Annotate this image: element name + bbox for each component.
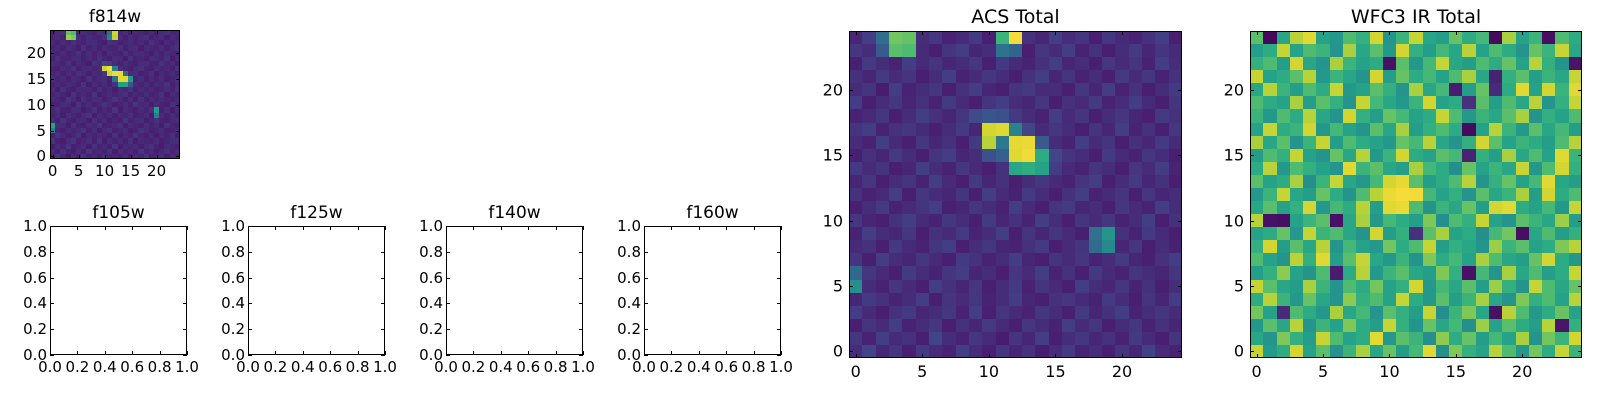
y-tick-label: 0.6: [221, 269, 245, 287]
y-tick-label: 5: [36, 122, 46, 140]
y-tick: [644, 252, 648, 253]
y-tick-right: [1178, 351, 1182, 352]
y-tick-right: [777, 355, 781, 356]
y-tick: [1250, 90, 1254, 91]
x-tick-top: [132, 226, 133, 230]
y-tick-right: [176, 156, 180, 157]
x-tick: [275, 351, 276, 355]
y-tick-right: [183, 252, 187, 253]
x-tick-top: [1055, 31, 1056, 35]
y-tick: [446, 252, 450, 253]
y-tick-right: [183, 303, 187, 304]
y-tick: [446, 329, 450, 330]
x-tick-top: [105, 226, 106, 230]
x-tick: [160, 351, 161, 355]
y-tick-right: [579, 226, 583, 227]
x-tick-top: [160, 226, 161, 230]
y-tick-label: 15: [1224, 146, 1244, 165]
x-tick-label: 1.0: [175, 358, 199, 376]
axes-frame: [1250, 31, 1582, 358]
x-tick-label: 15: [1045, 362, 1065, 381]
x-tick: [1055, 354, 1056, 358]
panel-wfc3-ir-total[interactable]: WFC3 IR Total 0510152005101520: [1250, 31, 1582, 358]
y-tick-label: 0.2: [221, 320, 245, 338]
y-tick: [446, 278, 450, 279]
y-tick: [50, 105, 54, 106]
panel-f814w[interactable]: f814w 0510152005101520: [50, 30, 180, 159]
y-tick: [248, 329, 252, 330]
y-tick: [446, 355, 450, 356]
y-tick: [644, 355, 648, 356]
y-tick-label: 0: [833, 342, 843, 361]
x-tick-label: 0.2: [659, 358, 683, 376]
y-tick-label: 0.0: [23, 346, 47, 364]
x-tick-top: [358, 226, 359, 230]
x-tick-top: [53, 30, 54, 34]
x-tick-top: [754, 226, 755, 230]
x-tick-top: [446, 226, 447, 230]
x-tick: [105, 351, 106, 355]
x-tick-top: [583, 226, 584, 230]
x-tick-label: 1.0: [373, 358, 397, 376]
y-tick-right: [183, 278, 187, 279]
x-tick-label: 1.0: [571, 358, 595, 376]
y-tick-right: [579, 303, 583, 304]
x-tick-label: 0: [48, 162, 58, 180]
x-tick-label: 0.4: [687, 358, 711, 376]
y-tick-label: 20: [1224, 80, 1244, 99]
y-tick-right: [381, 278, 385, 279]
y-tick: [849, 351, 853, 352]
panel-title-acs-total: ACS Total: [849, 6, 1182, 28]
x-tick: [187, 351, 188, 355]
x-tick-top: [644, 226, 645, 230]
y-tick-right: [1178, 155, 1182, 156]
y-tick-right: [176, 105, 180, 106]
x-tick: [1456, 354, 1457, 358]
axes-frame: [248, 226, 385, 355]
x-tick: [330, 351, 331, 355]
x-tick: [1257, 354, 1258, 358]
y-tick: [50, 329, 54, 330]
x-tick-top: [856, 31, 857, 35]
y-tick-right: [183, 329, 187, 330]
axes-frame: [849, 31, 1182, 358]
x-tick-label: 0.4: [489, 358, 513, 376]
x-tick-top: [1323, 31, 1324, 35]
x-tick-label: 10: [979, 362, 999, 381]
panel-title-f160w: f160w: [644, 203, 781, 223]
x-tick-label: 20: [1112, 362, 1132, 381]
y-tick-label: 0.2: [419, 320, 443, 338]
y-tick: [50, 278, 54, 279]
y-tick: [1250, 221, 1254, 222]
x-tick-label: 15: [121, 162, 140, 180]
y-tick-label: 0.6: [617, 269, 641, 287]
x-tick-top: [556, 226, 557, 230]
y-tick-right: [381, 303, 385, 304]
x-tick-label: 5: [1318, 362, 1328, 381]
y-tick-right: [381, 252, 385, 253]
panel-title-f814w: f814w: [50, 7, 180, 27]
y-tick-label: 0: [1234, 342, 1244, 361]
y-tick-right: [183, 355, 187, 356]
y-tick-label: 15: [823, 146, 843, 165]
x-tick-top: [473, 226, 474, 230]
y-tick-right: [579, 278, 583, 279]
y-tick-right: [176, 79, 180, 80]
y-tick-right: [579, 329, 583, 330]
x-tick-top: [699, 226, 700, 230]
y-tick-right: [777, 329, 781, 330]
y-tick-right: [381, 355, 385, 356]
x-tick-label: 20: [1512, 362, 1532, 381]
x-tick: [473, 351, 474, 355]
x-tick-label: 0.8: [544, 358, 568, 376]
x-tick: [1122, 354, 1123, 358]
y-tick-right: [1178, 221, 1182, 222]
x-tick-top: [105, 30, 106, 34]
x-tick: [583, 351, 584, 355]
x-tick: [157, 155, 158, 159]
y-tick-label: 0.0: [221, 346, 245, 364]
x-tick: [699, 351, 700, 355]
panel-acs-total[interactable]: ACS Total 0510152005101520: [849, 31, 1182, 358]
x-tick-label: 0.8: [742, 358, 766, 376]
y-tick-label: 5: [833, 277, 843, 296]
x-tick-top: [77, 226, 78, 230]
x-tick: [77, 351, 78, 355]
y-tick: [1250, 351, 1254, 352]
x-tick: [556, 351, 557, 355]
y-tick-label: 0.0: [617, 346, 641, 364]
y-tick-right: [176, 53, 180, 54]
y-tick-right: [1178, 286, 1182, 287]
y-tick-right: [1578, 351, 1582, 352]
x-tick-label: 0: [1252, 362, 1262, 381]
y-tick-label: 0.8: [221, 243, 245, 261]
y-tick: [50, 79, 54, 80]
axes-frame: [644, 226, 781, 355]
x-tick: [501, 351, 502, 355]
x-tick-top: [248, 226, 249, 230]
x-tick-top: [501, 226, 502, 230]
y-tick-right: [381, 226, 385, 227]
x-tick-label: 5: [917, 362, 927, 381]
x-tick-label: 0: [851, 362, 861, 381]
y-tick-right: [777, 303, 781, 304]
x-tick: [132, 351, 133, 355]
y-tick: [248, 278, 252, 279]
x-tick-top: [50, 226, 51, 230]
x-tick-label: 10: [1379, 362, 1399, 381]
x-tick: [781, 351, 782, 355]
x-tick: [105, 155, 106, 159]
y-tick-right: [1578, 221, 1582, 222]
y-tick: [50, 53, 54, 54]
x-tick-label: 0.4: [291, 358, 315, 376]
x-tick-label: 0.2: [263, 358, 287, 376]
x-tick-top: [187, 226, 188, 230]
x-tick: [131, 155, 132, 159]
axes-frame: [50, 30, 180, 159]
x-tick-top: [671, 226, 672, 230]
axes-frame: [50, 226, 187, 355]
x-tick-top: [385, 226, 386, 230]
y-tick-label: 1.0: [617, 217, 641, 235]
y-tick-label: 0.6: [419, 269, 443, 287]
x-tick-label: 0.2: [65, 358, 89, 376]
y-tick: [849, 90, 853, 91]
x-tick: [856, 354, 857, 358]
x-tick-label: 1.0: [769, 358, 793, 376]
panel-f125w[interactable]: f125w 0.00.20.40.60.81.00.00.20.40.60.81…: [248, 226, 385, 355]
y-tick: [248, 303, 252, 304]
y-tick: [50, 156, 54, 157]
y-tick: [50, 131, 54, 132]
y-tick: [644, 278, 648, 279]
y-tick-right: [183, 226, 187, 227]
x-tick-label: 0.8: [148, 358, 172, 376]
y-tick-right: [579, 252, 583, 253]
y-tick-label: 0.2: [23, 320, 47, 338]
y-tick: [248, 355, 252, 356]
panel-f105w[interactable]: f105w 0.00.20.40.60.81.00.00.20.40.60.81…: [50, 226, 187, 355]
x-tick-label: 0.6: [516, 358, 540, 376]
y-tick: [849, 155, 853, 156]
y-tick-right: [381, 329, 385, 330]
y-tick: [248, 252, 252, 253]
y-tick-label: 20: [27, 44, 46, 62]
x-tick-top: [157, 30, 158, 34]
panel-title-f125w: f125w: [248, 203, 385, 223]
x-tick-label: 0.2: [461, 358, 485, 376]
panel-f140w[interactable]: f140w 0.00.20.40.60.81.00.00.20.40.60.81…: [446, 226, 583, 355]
x-tick: [989, 354, 990, 358]
panel-title-f105w: f105w: [50, 203, 187, 223]
y-tick-right: [176, 131, 180, 132]
y-tick-label: 10: [27, 96, 46, 114]
x-tick-top: [922, 31, 923, 35]
y-tick-label: 1.0: [23, 217, 47, 235]
y-tick-label: 0.4: [23, 294, 47, 312]
x-tick: [1323, 354, 1324, 358]
y-tick: [446, 303, 450, 304]
x-tick: [754, 351, 755, 355]
x-tick: [922, 354, 923, 358]
y-tick-label: 5: [1234, 277, 1244, 296]
y-tick: [849, 286, 853, 287]
y-tick-label: 0.8: [23, 243, 47, 261]
y-tick: [50, 252, 54, 253]
y-tick-label: 0.2: [617, 320, 641, 338]
x-tick-label: 0.6: [318, 358, 342, 376]
y-tick-right: [777, 226, 781, 227]
x-tick: [385, 351, 386, 355]
x-tick-top: [330, 226, 331, 230]
y-tick-label: 0.4: [617, 294, 641, 312]
y-tick-right: [579, 355, 583, 356]
x-tick-label: 0.8: [346, 358, 370, 376]
y-tick-right: [1578, 90, 1582, 91]
x-tick-top: [303, 226, 304, 230]
x-tick-top: [781, 226, 782, 230]
y-tick-label: 0.0: [419, 346, 443, 364]
x-tick-top: [1257, 31, 1258, 35]
x-tick-top: [528, 226, 529, 230]
x-tick: [303, 351, 304, 355]
y-tick: [1250, 286, 1254, 287]
y-tick: [50, 355, 54, 356]
y-tick-label: 0.8: [419, 243, 443, 261]
x-tick-top: [1522, 31, 1523, 35]
x-tick-label: 5: [74, 162, 84, 180]
x-tick-label: 0.6: [714, 358, 738, 376]
y-tick-label: 0.4: [419, 294, 443, 312]
y-tick-right: [777, 278, 781, 279]
y-tick-right: [1578, 155, 1582, 156]
y-tick: [644, 303, 648, 304]
y-tick-label: 0.4: [221, 294, 245, 312]
x-tick-top: [1389, 31, 1390, 35]
y-tick-right: [777, 252, 781, 253]
panel-title-wfc3-ir-total: WFC3 IR Total: [1250, 6, 1582, 28]
x-tick-top: [989, 31, 990, 35]
y-tick: [644, 329, 648, 330]
x-tick-top: [1122, 31, 1123, 35]
x-tick-top: [726, 226, 727, 230]
y-tick-label: 1.0: [419, 217, 443, 235]
x-tick-label: 10: [95, 162, 114, 180]
y-tick: [50, 303, 54, 304]
y-tick-label: 10: [823, 211, 843, 230]
panel-title-f140w: f140w: [446, 203, 583, 223]
y-tick-label: 1.0: [221, 217, 245, 235]
x-tick-label: 15: [1446, 362, 1466, 381]
x-tick-label: 0.6: [120, 358, 144, 376]
axes-frame: [446, 226, 583, 355]
x-tick: [79, 155, 80, 159]
x-tick-top: [79, 30, 80, 34]
x-tick-top: [275, 226, 276, 230]
y-tick-right: [1578, 286, 1582, 287]
y-tick-label: 0.6: [23, 269, 47, 287]
y-tick-label: 0: [36, 147, 46, 165]
x-tick-top: [131, 30, 132, 34]
matplotlib-figure: f814w 0510152005101520 f105w 0.00.20.40.…: [0, 0, 1600, 400]
y-tick-right: [1178, 90, 1182, 91]
x-tick-label: 20: [147, 162, 166, 180]
x-tick: [1389, 354, 1390, 358]
x-tick: [358, 351, 359, 355]
x-tick-top: [1456, 31, 1457, 35]
y-tick: [849, 221, 853, 222]
x-tick-label: 0.4: [93, 358, 117, 376]
y-tick-label: 10: [1224, 211, 1244, 230]
x-tick: [671, 351, 672, 355]
x-tick: [1522, 354, 1523, 358]
y-tick-label: 0.8: [617, 243, 641, 261]
y-tick: [1250, 155, 1254, 156]
x-tick: [528, 351, 529, 355]
y-tick-label: 20: [823, 80, 843, 99]
x-tick: [726, 351, 727, 355]
y-tick-label: 15: [27, 70, 46, 88]
panel-f160w[interactable]: f160w 0.00.20.40.60.81.00.00.20.40.60.81…: [644, 226, 781, 355]
